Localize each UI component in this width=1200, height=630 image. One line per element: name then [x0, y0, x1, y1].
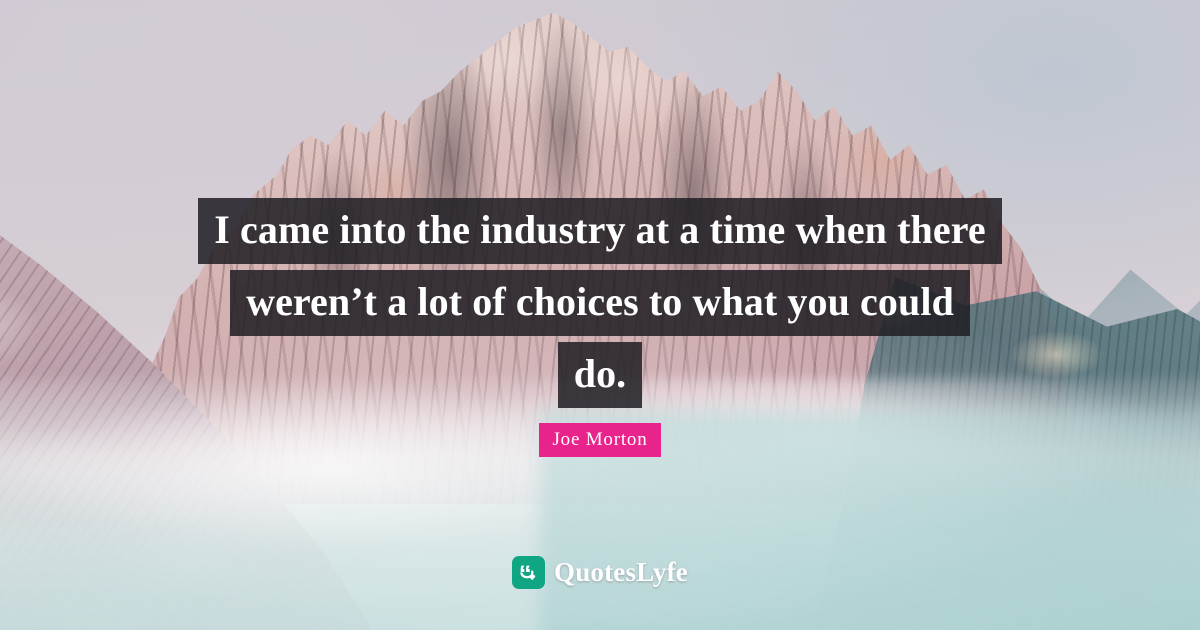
- brand-logo: QuotesLyfe: [0, 556, 1200, 589]
- quote-smiley-icon: [512, 556, 545, 589]
- brand-name-text: QuotesLyfe: [554, 559, 688, 586]
- quote-card: I came into the industry at a time when …: [0, 0, 1200, 630]
- quote-line-3: do.: [558, 342, 643, 408]
- quote-line-2: weren’t a lot of choices to what you cou…: [230, 270, 970, 336]
- author-name-badge: Joe Morton: [539, 423, 660, 457]
- author-attribution: Joe Morton: [0, 423, 1200, 457]
- quote-line-1: I came into the industry at a time when …: [198, 198, 1001, 264]
- quote-text-block: I came into the industry at a time when …: [0, 198, 1200, 408]
